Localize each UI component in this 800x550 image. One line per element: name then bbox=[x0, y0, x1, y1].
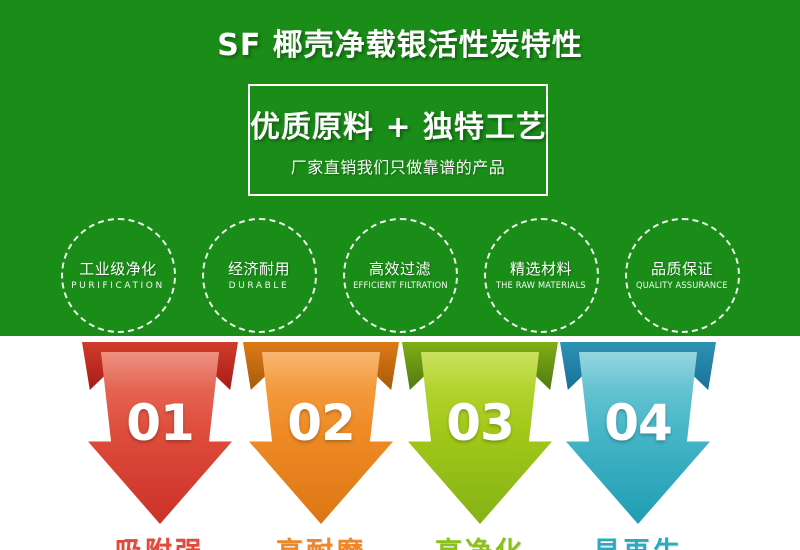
arrow-number: 03 bbox=[408, 398, 552, 448]
highlight-subline: 厂家直销我们只做靠谱的产品 bbox=[250, 154, 546, 178]
arrow-item-02: 02 高耐磨 bbox=[239, 342, 403, 550]
feature-circle-label-cn: 经济耐用 bbox=[228, 260, 290, 278]
arrow-label: 高耐磨 bbox=[239, 530, 403, 550]
feature-circle-label-cn: 工业级净化 bbox=[79, 260, 157, 278]
arrow-number: 02 bbox=[249, 398, 393, 448]
feature-circle-durable: 经济耐用 DURABLE bbox=[202, 218, 317, 333]
arrow-label: 易再生 bbox=[556, 530, 720, 550]
page-title: SF 椰壳净载银活性炭特性 bbox=[0, 20, 800, 64]
feature-circle-label-en: DURABLE bbox=[229, 281, 290, 291]
hero-panel: SF 椰壳净载银活性炭特性 优质原料 + 独特工艺 厂家直销我们只做靠谱的产品 … bbox=[0, 0, 800, 336]
highlight-headline: 优质原料 + 独特工艺 bbox=[250, 102, 546, 146]
arrow-list: 01 吸附强 02 高耐磨 03 高净化 04 bbox=[0, 336, 800, 550]
arrow-label: 吸附强 bbox=[78, 530, 242, 550]
arrow-stage: 01 吸附强 02 高耐磨 03 高净化 04 bbox=[0, 336, 800, 550]
feature-circle-label-cn: 精选材料 bbox=[510, 260, 572, 278]
feature-circle-purification: 工业级净化 PURIFICATION bbox=[61, 218, 176, 333]
feature-circle-raw-materials: 精选材料 THE RAW MATERIALS bbox=[484, 218, 599, 333]
arrow-item-03: 03 高净化 bbox=[398, 342, 562, 550]
feature-circle-label-en: PURIFICATION bbox=[71, 281, 165, 291]
arrow-number: 04 bbox=[566, 398, 710, 448]
feature-circle-label-en: EFFICIENT FILTRATION bbox=[353, 281, 448, 291]
arrow-label: 高净化 bbox=[398, 530, 562, 550]
arrow-item-01: 01 吸附强 bbox=[78, 342, 242, 550]
feature-circle-efficient-filtration: 高效过滤 EFFICIENT FILTRATION bbox=[343, 218, 458, 333]
feature-circle-label-cn: 品质保证 bbox=[651, 260, 713, 278]
feature-circle-label-cn: 高效过滤 bbox=[369, 260, 431, 278]
highlight-box: 优质原料 + 独特工艺 厂家直销我们只做靠谱的产品 bbox=[248, 84, 548, 196]
feature-circle-label-en: QUALITY ASSURANCE bbox=[636, 281, 728, 291]
arrow-number: 01 bbox=[88, 398, 232, 448]
feature-circle-quality-assurance: 品质保证 QUALITY ASSURANCE bbox=[625, 218, 740, 333]
arrow-item-04: 04 易再生 bbox=[556, 342, 720, 550]
feature-circle-list: 工业级净化 PURIFICATION 经济耐用 DURABLE 高效过滤 EFF… bbox=[0, 218, 800, 336]
promo-banner: SF 椰壳净载银活性炭特性 优质原料 + 独特工艺 厂家直销我们只做靠谱的产品 … bbox=[0, 0, 800, 550]
feature-circle-label-en: THE RAW MATERIALS bbox=[496, 281, 586, 291]
